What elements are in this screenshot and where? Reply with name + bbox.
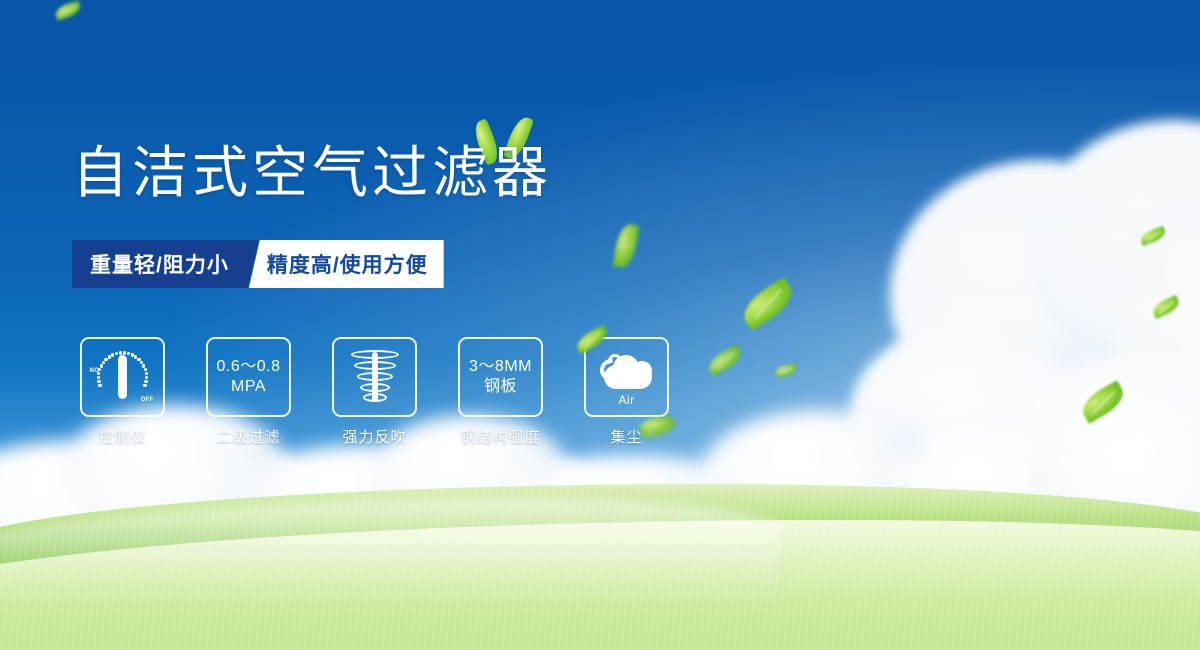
subtitle-right-panel: 精度高/使用方便 <box>249 240 444 288</box>
feature-caption: 强力反吹 <box>342 426 406 447</box>
control-dial-icon: NO OFF <box>92 348 154 406</box>
dial-tick-dot <box>123 351 126 354</box>
dial-tick-dot <box>98 384 101 387</box>
steel-plate-text-icon: 3～8MM 钢板 <box>469 357 532 396</box>
dial-tick-dot <box>102 361 105 364</box>
dial-off-label: OFF <box>141 397 154 403</box>
dial-needle-icon <box>118 355 127 399</box>
feature-box: 0.6～0.8 MPA <box>206 337 291 417</box>
dial-tick-dot <box>142 364 145 367</box>
feature-box: 3～8MM 钢板 <box>458 337 543 417</box>
dial-tick-dot <box>115 352 118 355</box>
feature-item-steel[interactable]: 3～8MM 钢板 钢结构强度 <box>458 337 543 447</box>
feature-caption: 控制仪 <box>98 426 146 447</box>
pressure-text-icon: 0.6～0.8 MPA <box>217 357 281 396</box>
dial-tick-dot <box>111 353 114 356</box>
feature-caption: 二级过滤 <box>216 426 280 447</box>
dial-tick-dot <box>98 368 101 371</box>
dial-tick-dot <box>144 380 147 383</box>
dial-tick-dot <box>97 372 100 375</box>
dial-tick-dot <box>127 352 130 355</box>
feature-item-blowback[interactable]: 强力反吹 <box>332 337 417 447</box>
air-cloud-icon: Air <box>596 351 658 403</box>
dial-tick-dot <box>145 372 148 375</box>
feature-box <box>332 337 417 417</box>
feature-caption: 集尘 <box>610 426 642 447</box>
dial-tick-dot <box>97 376 100 379</box>
dial-tick-dot <box>119 351 122 354</box>
grass-texture <box>0 460 1200 650</box>
feature-box: Air <box>584 337 669 417</box>
feature-caption: 钢结构强度 <box>460 426 540 447</box>
dial-tick-dot <box>145 376 148 379</box>
feature-item-pressure[interactable]: 0.6～0.8 MPA 二级过滤 <box>206 337 291 447</box>
dial-tick-dot <box>100 364 103 367</box>
subtitle-left-panel: 重量轻/阻力小 <box>72 240 259 288</box>
dial-tick-dot <box>97 380 100 383</box>
banner-root: 自洁式空气过滤器 重量轻/阻力小 精度高/使用方便 NO OFF 控制仪 0.6… <box>0 0 1200 650</box>
pulse-blowback-icon <box>347 348 403 406</box>
subtitle-bar: 重量轻/阻力小 精度高/使用方便 <box>72 240 464 288</box>
grass-field <box>0 460 1200 650</box>
dial-tick-dot <box>143 384 146 387</box>
feature-box: NO OFF <box>80 337 165 417</box>
page-title: 自洁式空气过滤器 <box>72 142 552 205</box>
feature-item-control[interactable]: NO OFF 控制仪 <box>80 337 165 447</box>
dial-tick-dot <box>144 368 147 371</box>
air-label: Air <box>596 393 658 407</box>
